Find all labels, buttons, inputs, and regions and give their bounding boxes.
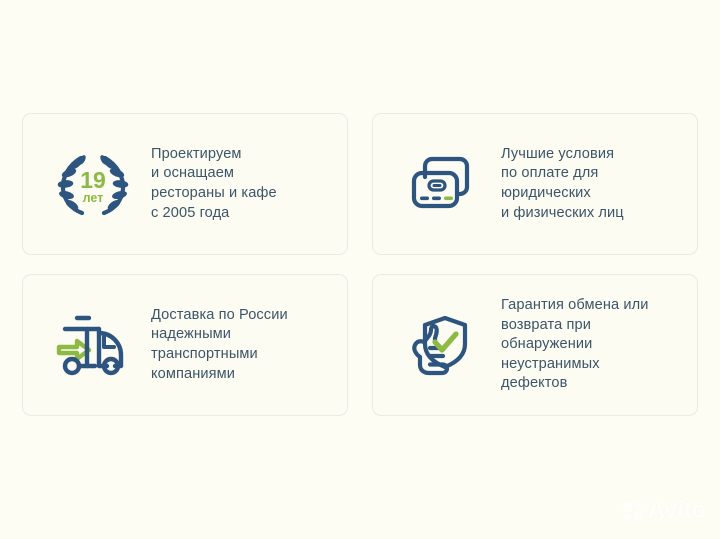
- shield-thumbs-up-icon: [395, 302, 491, 388]
- benefit-card-payment-text: Лучшие условия по оплате для юридических…: [491, 145, 624, 223]
- laurel-wreath-icon: 19 лет: [45, 141, 141, 227]
- benefit-card-experience-text: Проектируем и оснащаем рестораны и кафе …: [141, 145, 277, 223]
- laurel-badge-unit: лет: [83, 191, 104, 205]
- avito-watermark-label: Avito: [647, 496, 706, 525]
- benefits-grid: 19 лет Проектируем и оснащаем рестораны …: [22, 113, 698, 416]
- benefit-card-experience: 19 лет Проектируем и оснащаем рестораны …: [22, 113, 348, 255]
- credit-card-icon: [395, 141, 491, 227]
- benefit-card-payment: Лучшие условия по оплате для юридических…: [372, 113, 698, 255]
- benefit-card-guarantee: Гарантия обмена или возврата при обнаруж…: [372, 274, 698, 416]
- benefit-card-guarantee-text: Гарантия обмена или возврата при обнаруж…: [491, 296, 649, 394]
- avito-watermark: Avito: [622, 496, 706, 525]
- benefit-card-delivery-text: Доставка по России надежными транспортны…: [141, 306, 288, 384]
- avito-logo-dots-icon: [622, 500, 644, 522]
- benefit-card-delivery: Доставка по России надежными транспортны…: [22, 274, 348, 416]
- laurel-badge-number: 19: [80, 167, 106, 193]
- delivery-truck-icon: [45, 302, 141, 388]
- page-root: 19 лет Проектируем и оснащаем рестораны …: [0, 0, 720, 539]
